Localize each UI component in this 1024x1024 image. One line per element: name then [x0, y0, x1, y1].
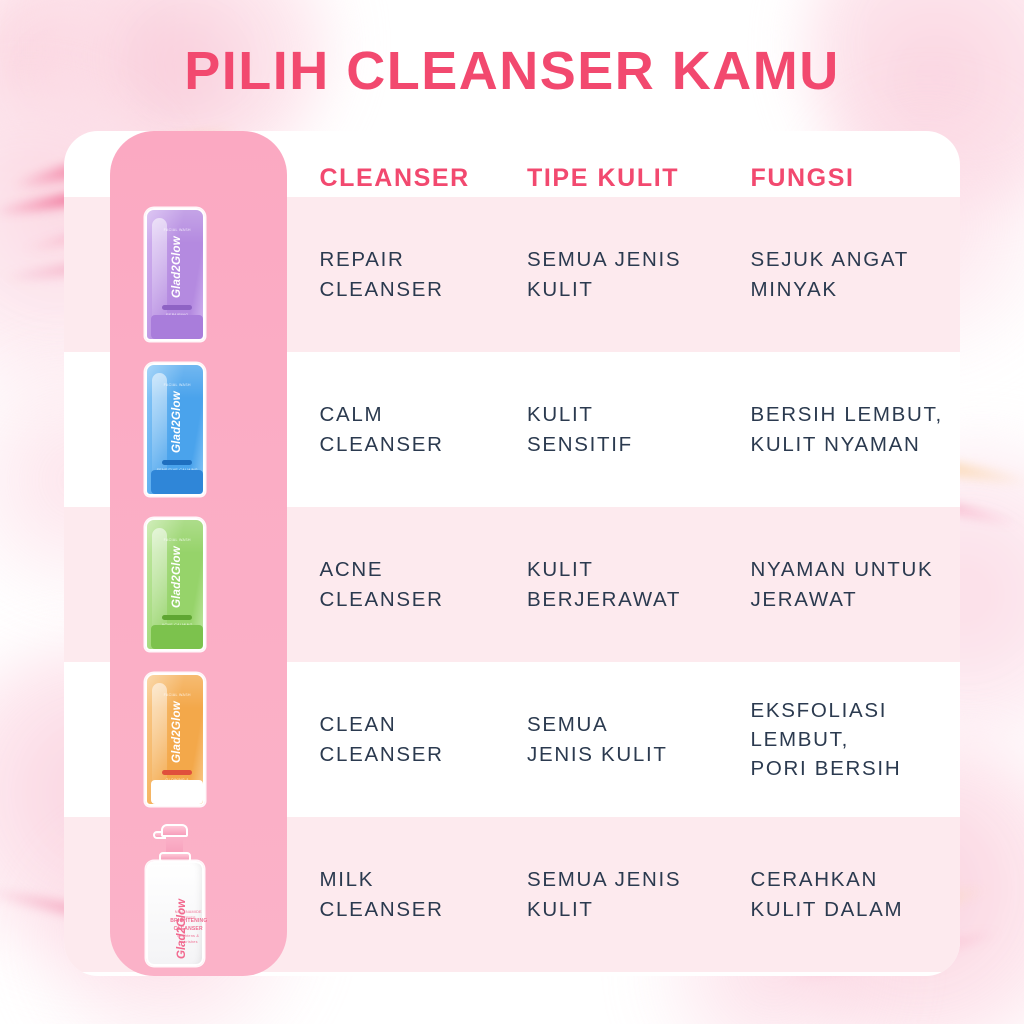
tube-body: FACIAL WASH Glad2Glow GLOWING & EXFOLIAT…: [145, 673, 205, 806]
tube-brand: Glad2Glow: [171, 393, 183, 453]
tube-body: FACIAL WASH Glad2Glow ACNE CALMING GEL C…: [145, 518, 205, 651]
product-tube: FACIAL WASH Glad2Glow ACNE CALMING GEL C…: [145, 518, 205, 651]
product-pump-bottle: Glad2Glow NIACINAMIDE SERIES BRIGHTENING…: [144, 824, 206, 966]
cell-fungsi: EKSFOLIASI LEMBUT, PORI BERSIH: [750, 696, 960, 783]
tube-badge: [162, 615, 192, 620]
tube-badge: [162, 770, 192, 775]
header-fungsi: FUNGSI: [750, 164, 960, 197]
cell-cleanser: ACNE CLEANSER: [286, 555, 527, 613]
comparison-table-card: CLEANSER TIPE KULIT FUNGSI FACIAL WASH G…: [64, 131, 960, 976]
bottle-desc-text: BRIGHTENING CLEANSER: [170, 917, 206, 933]
product-image-cell: FACIAL WASH Glad2Glow REPAIRING CLEANSER: [64, 197, 286, 352]
product-image-cell: FACIAL WASH Glad2Glow ACNE CALMING GEL C…: [64, 507, 286, 662]
table-row[interactable]: FACIAL WASH Glad2Glow SENSITIVE CALMING …: [64, 352, 960, 507]
page-title: PILIH CLEANSER KAMU: [0, 40, 1024, 102]
product-image-cell: FACIAL WASH Glad2Glow SENSITIVE CALMING …: [64, 352, 286, 507]
tube-cap: [151, 470, 203, 494]
bottle-body: Glad2Glow NIACINAMIDE SERIES BRIGHTENING…: [146, 861, 204, 966]
product-tube: FACIAL WASH Glad2Glow REPAIRING CLEANSER: [145, 208, 205, 341]
tube-top-text: FACIAL WASH: [155, 383, 199, 388]
cell-cleanser: REPAIR CLEANSER: [286, 245, 527, 303]
cell-tipe-kulit: SEMUA JENIS KULIT: [527, 245, 750, 303]
tube-body: FACIAL WASH Glad2Glow SENSITIVE CALMING …: [145, 363, 205, 496]
cell-tipe-kulit: KULIT BERJERAWAT: [527, 555, 750, 613]
tube-brand: Glad2Glow: [171, 238, 183, 298]
tube-badge: [162, 460, 192, 465]
tube-badge: [162, 305, 192, 310]
product-tube: FACIAL WASH Glad2Glow SENSITIVE CALMING …: [145, 363, 205, 496]
tube-cap: [151, 780, 203, 804]
cell-tipe-kulit: SEMUA JENIS KULIT: [527, 865, 750, 923]
tube-cap: [151, 625, 203, 649]
cell-fungsi: BERSIH LEMBUT, KULIT NYAMAN: [750, 400, 960, 458]
cell-tipe-kulit: KULIT SENSITIF: [527, 400, 750, 458]
table-row[interactable]: FACIAL WASH Glad2Glow ACNE CALMING GEL C…: [64, 507, 960, 662]
cell-tipe-kulit: SEMUA JENIS KULIT: [527, 710, 750, 768]
cell-fungsi: CERAHKAN KULIT DALAM: [750, 865, 960, 923]
header-cleanser: CLEANSER: [286, 164, 527, 197]
cell-cleanser: CLEAN CLEANSER: [286, 710, 527, 768]
tube-brand: Glad2Glow: [171, 703, 183, 763]
table-row[interactable]: FACIAL WASH Glad2Glow REPAIRING CLEANSER…: [64, 197, 960, 352]
product-image-cell: Glad2Glow NIACINAMIDE SERIES BRIGHTENING…: [64, 817, 286, 972]
cell-fungsi: NYAMAN UNTUK JERAWAT: [750, 555, 960, 613]
cell-cleanser: CALM CLEANSER: [286, 400, 527, 458]
bottle-pump-head: [161, 824, 188, 837]
tube-top-text: FACIAL WASH: [155, 228, 199, 233]
tube-cap: [151, 315, 203, 339]
cell-fungsi: SEJUK ANGAT MINYAK: [750, 245, 960, 303]
table-row[interactable]: Glad2Glow NIACINAMIDE SERIES BRIGHTENING…: [64, 817, 960, 972]
bottle-extra-text: Brightens & Nourishes: [170, 933, 206, 945]
table-body: FACIAL WASH Glad2Glow REPAIRING CLEANSER…: [64, 131, 960, 976]
product-tube: FACIAL WASH Glad2Glow GLOWING & EXFOLIAT…: [145, 673, 205, 806]
product-image-cell: FACIAL WASH Glad2Glow GLOWING & EXFOLIAT…: [64, 662, 286, 817]
tube-body: FACIAL WASH Glad2Glow REPAIRING CLEANSER: [145, 208, 205, 341]
header-tipe-kulit: TIPE KULIT: [527, 164, 750, 197]
tube-top-text: FACIAL WASH: [155, 693, 199, 698]
table-row[interactable]: FACIAL WASH Glad2Glow GLOWING & EXFOLIAT…: [64, 662, 960, 817]
table-header-row: CLEANSER TIPE KULIT FUNGSI: [64, 131, 960, 197]
cell-cleanser: MILK CLEANSER: [286, 865, 527, 923]
tube-brand: Glad2Glow: [171, 548, 183, 608]
tube-top-text: FACIAL WASH: [155, 538, 199, 543]
